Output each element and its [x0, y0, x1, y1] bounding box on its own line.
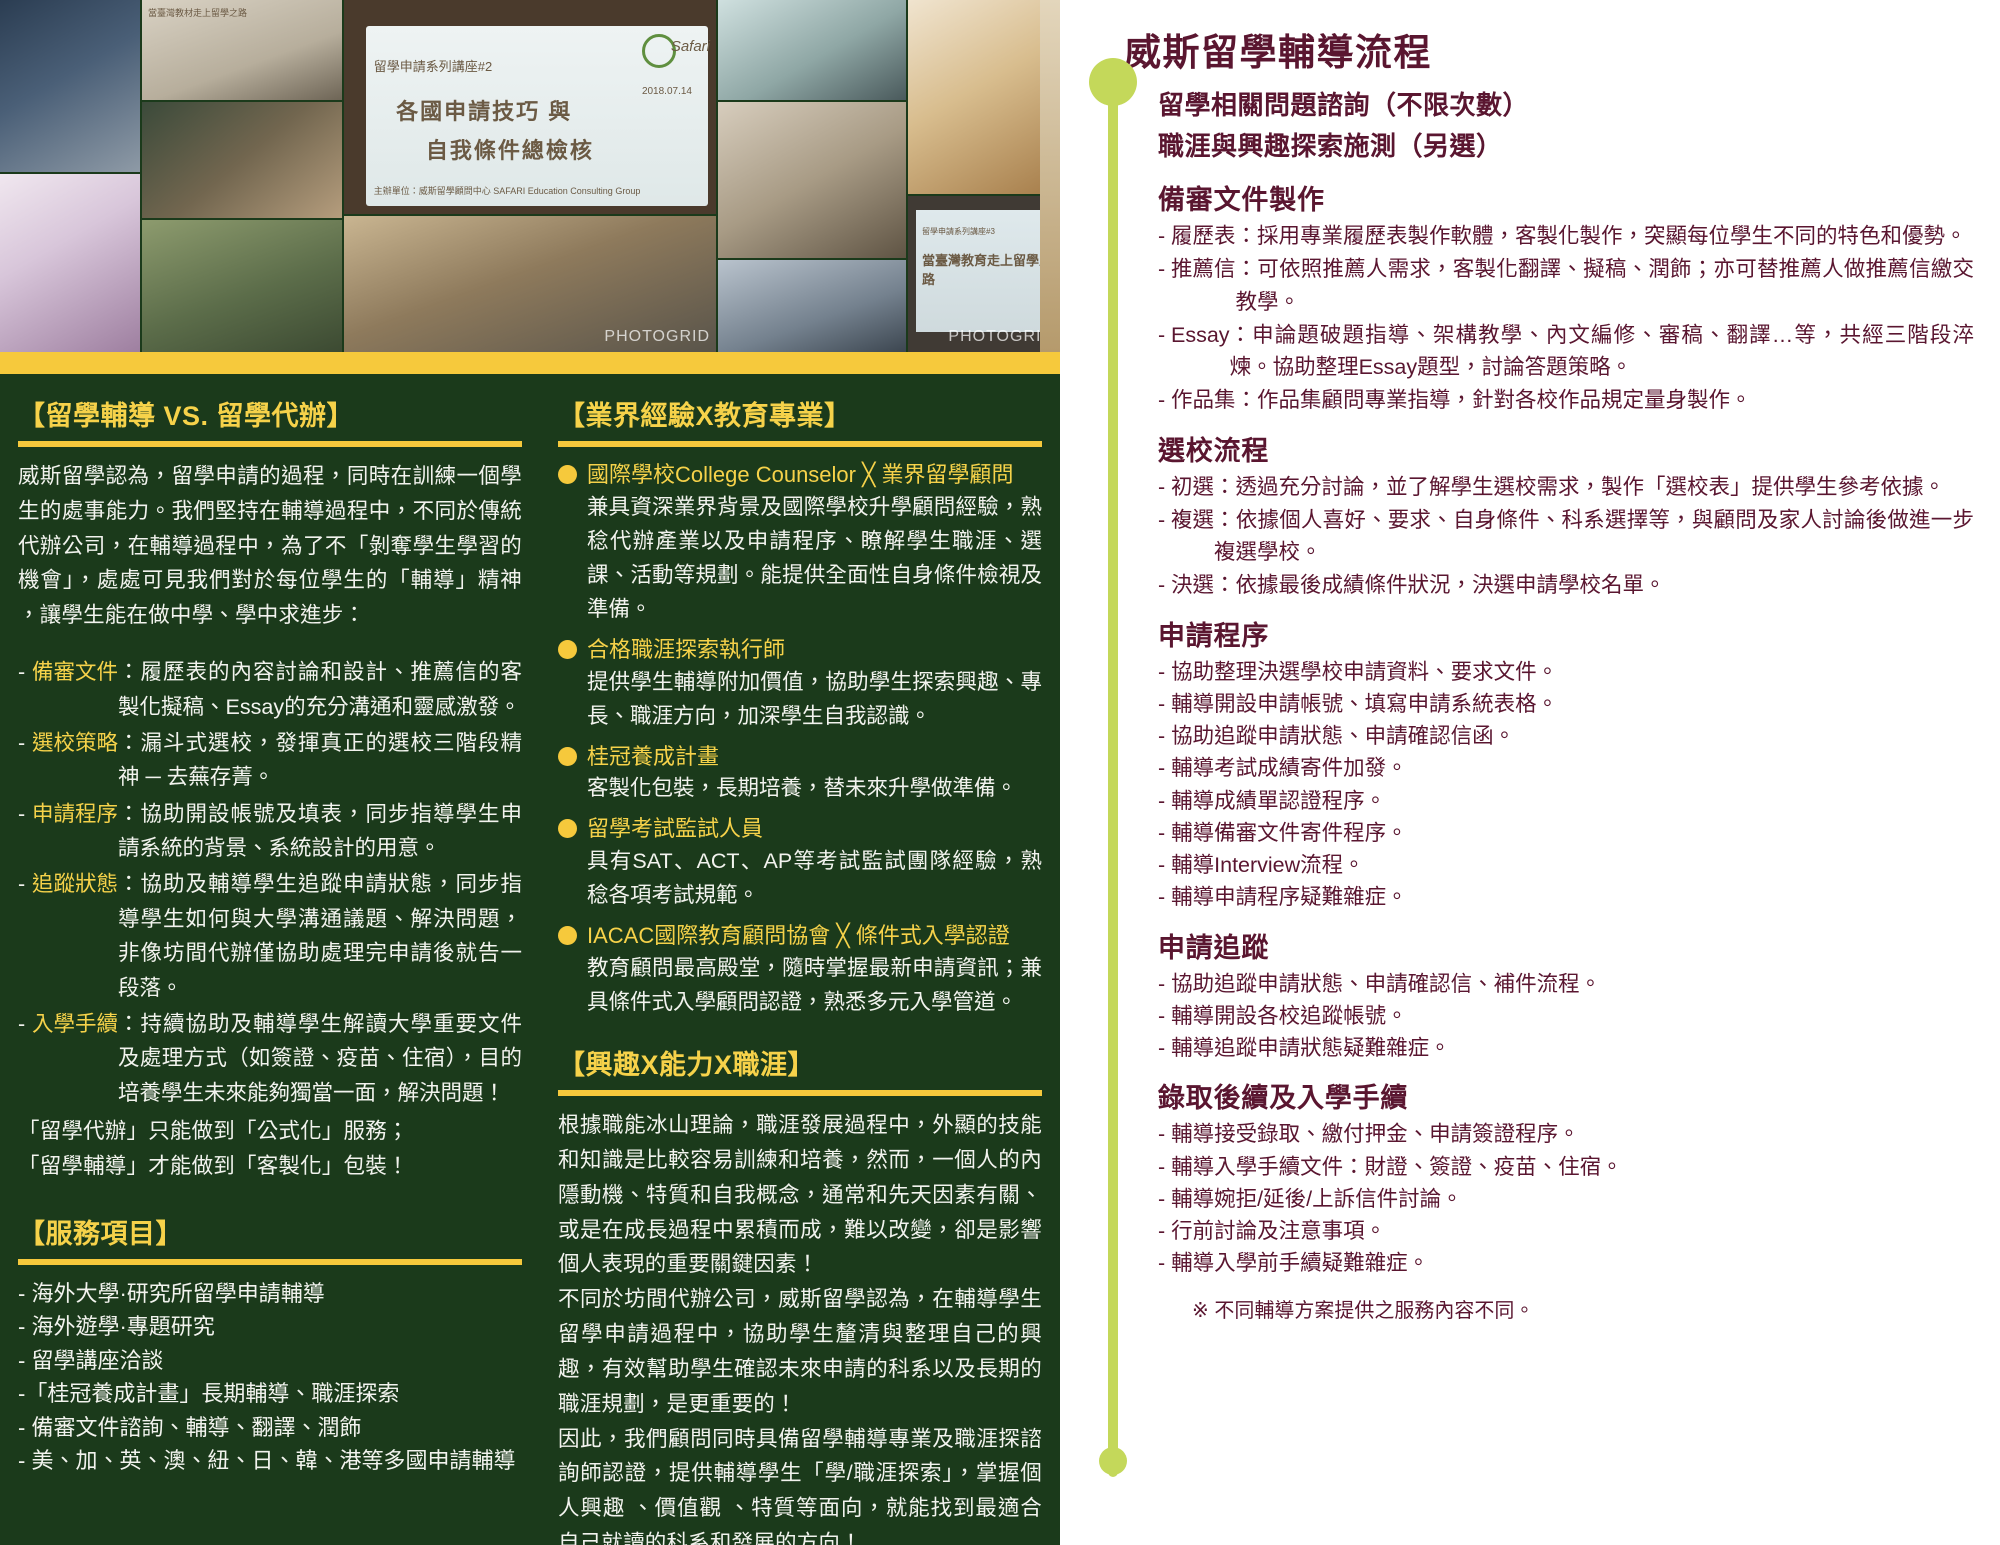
list-item: - 輔導考試成績寄件加發。	[1158, 752, 1974, 784]
item-body: ：持續協助及輔導學生解讀大學重要文件及處理方式（如簽證、疫苗、住宿），目的培養學…	[118, 1007, 522, 1110]
collage-photo-11	[1040, 0, 1060, 352]
closing-line-2: 「留學輔導」才能做到「客製化」包裝！	[18, 1149, 522, 1184]
collage-photo-3	[142, 102, 342, 218]
bullet-body: 具有SAT、ACT、AP等考試監試團隊經驗，熟稔各項考試規範。	[558, 845, 1042, 913]
dash-marker: -	[1158, 504, 1171, 569]
collage-caption-1: 當臺灣教材走上留學之路	[148, 6, 247, 19]
item-label: 申請程序	[32, 797, 118, 866]
list-item: - 初選 ：透過充分討論，並了解學生選校需求，製作「選校表」提供學生參考依據。	[1158, 471, 1974, 503]
list-item: - 輔導Interview流程。	[1158, 849, 1974, 881]
lead-line-1: 留學相關問題諮詢（不限次數）	[1158, 86, 1974, 125]
list-item: - 協助整理決選學校申請資料、要求文件。	[1158, 656, 1974, 688]
section-heading-post-admission: 錄取後續及入學手續	[1158, 1076, 1974, 1115]
collage-photo-2: 當臺灣教材走上留學之路	[142, 0, 342, 100]
interest-paragraph-2: 不同於坊間代辦公司，威斯留學認為，在輔導學生留學申請過程中，協助學生釐清與整理自…	[558, 1282, 1042, 1421]
item-label: 初選	[1171, 471, 1214, 503]
collage-photo-slide3: 留學申請系列講座#3 當臺灣教育走上留學之路 PHOTOGRID	[908, 196, 1060, 352]
interest-paragraph-1: 根據職能冰山理論，職涯發展過程中，外顯的技能和知識是比較容易訓練和培養，然而，一…	[558, 1108, 1042, 1282]
item-label: 備審文件	[32, 655, 118, 724]
list-item: - 輔導申請程序疑難雜症。	[1158, 881, 1974, 913]
list-item: - 輔導接受錄取、繳付押金、申請簽證程序。	[1158, 1118, 1974, 1150]
item-body: ：依據最後成績條件狀況，決選申請學校名單。	[1214, 569, 1974, 601]
item-label: 選校策略	[32, 726, 118, 795]
list-item: - 輔導婉拒/延後/上訴信件討論。	[1158, 1183, 1974, 1215]
item-body: ：履歷表的內容討論和設計、推薦信的客製化擬稿、Essay的充分溝通和靈感激發。	[118, 655, 522, 724]
bullet-head: 桂冠養成計畫	[558, 741, 1042, 773]
bullet-head: 合格職涯探索執行師	[558, 634, 1042, 666]
experience-bullets: 國際學校College Counselor ╳ 業界留學顧問 兼具資深業界背景及…	[558, 459, 1042, 1020]
bullet-dot-icon	[558, 640, 577, 659]
section-title-interest: 【興趣X能力X職涯】	[558, 1043, 1042, 1082]
list-item: - 複選 ：依據個人喜好、要求、自身條件、科系選擇等，與顧問及家人討論後做進一步…	[1158, 504, 1974, 569]
list-item: 合格職涯探索執行師 提供學生輔導附加價值，協助學生探索興趣、專長、職涯方向，加深…	[558, 634, 1042, 734]
comparison-intro: 威斯留學認為，留學申請的過程，同時在訓練一個學生的處事能力。我們堅持在輔導過程中…	[18, 459, 522, 633]
item-label: 追蹤狀態	[32, 867, 118, 1005]
left-panel: 當臺灣教材走上留學之路 留學申請系列講座#2 各國申請技巧 與 自我條件總檢核 …	[0, 0, 1060, 1545]
item-body: ：協助及輔導學生追蹤申請狀態，同步指導學生如何與大學溝通議題、解決問題，非像坊間…	[118, 867, 522, 1005]
list-item: - 決選 ：依據最後成績條件狀況，決選申請學校名單。	[1158, 569, 1974, 601]
closing-line-1: 「留學代辦」只能做到「公式化」服務；	[18, 1114, 522, 1149]
item-label: 入學手續	[32, 1007, 118, 1110]
dash-marker: -	[18, 797, 32, 866]
bullet-body: 教育顧問最高殿堂，隨時掌握最新申請資訊；兼具條件式入學顧問認證，熟悉多元入學管道…	[558, 952, 1042, 1020]
list-item: - Essay ：申論題破題指導、架構教學、內文編修、審稿、翻譯…等，共經三階段…	[1158, 319, 1974, 384]
section-title-comparison: 【留學輔導 VS. 留學代辦】	[18, 394, 522, 433]
item-label: 決選	[1171, 569, 1214, 601]
dash-marker: -	[1158, 471, 1171, 503]
item-body: ：可依照推薦人需求，客製化翻譯、擬稿、潤飾；亦可替推薦人做推薦信繳交教學。	[1236, 253, 1974, 318]
slide2-date: 2018.07.14	[642, 86, 692, 97]
watermark-2: PHOTOGRID	[948, 328, 1054, 346]
section-rule-4	[558, 1090, 1042, 1096]
bullet-dot-icon	[558, 819, 577, 838]
slide3-series: 留學申請系列講座#3	[922, 226, 995, 237]
lead-line-2: 職涯與興趣探索施測（另選）	[1158, 127, 1974, 166]
item-label: 推薦信	[1171, 253, 1236, 318]
list-item: - 履歷表 ：採用專業履歷表製作軟體，客製化製作，突顯每位學生不同的特色和優勢。	[1158, 220, 1974, 252]
bullet-body: 客製化包裝，長期培養，替未來升學做準備。	[558, 772, 1042, 806]
spacer-1	[18, 633, 522, 649]
bullet-title: IACAC國際教育顧問協會 ╳ 條件式入學認證	[587, 920, 1010, 952]
bullet-title: 留學考試監試人員	[587, 813, 763, 845]
list-item: - 推薦信 ：可依照推薦人需求，客製化翻譯、擬稿、潤飾；亦可替推薦人做推薦信繳交…	[1158, 253, 1974, 318]
list-item: 留學考試監試人員 具有SAT、ACT、AP等考試監試團隊經驗，熟稔各項考試規範。	[558, 813, 1042, 913]
services-list: - 海外大學·研究所留學申請輔導 - 海外遊學·專題研究 - 留學講座洽談 -「…	[18, 1277, 522, 1478]
bullet-head: 國際學校College Counselor ╳ 業界留學顧問	[558, 459, 1042, 491]
dash-marker: -	[1158, 253, 1171, 318]
column-a: 【留學輔導 VS. 留學代辦】 威斯留學認為，留學申請的過程，同時在訓練一個學生…	[0, 374, 540, 1545]
list-item: - 海外大學·研究所留學申請輔導	[18, 1277, 522, 1310]
dash-marker: -	[1158, 220, 1171, 252]
bullet-head: 留學考試監試人員	[558, 813, 1042, 845]
list-item: - 協助追蹤申請狀態、申請確認信、補件流程。	[1158, 968, 1974, 1000]
section-rule-1	[18, 441, 522, 447]
section-title-services: 【服務項目】	[18, 1212, 522, 1251]
collage-photo-5	[142, 220, 342, 352]
right-panel: 威斯留學輔導流程 留學相關問題諮詢（不限次數） 職涯與興趣探索施測（另選） 備審…	[1060, 0, 2000, 1545]
list-item: - 輔導備審文件寄件程序。	[1158, 817, 1974, 849]
item-body: ：協助開設帳號及填表，同步指導學生申請系統的背景、系統設計的用意。	[118, 797, 522, 866]
poster-root: 當臺灣教材走上留學之路 留學申請系列講座#2 各國申請技巧 與 自我條件總檢核 …	[0, 0, 2000, 1545]
list-item: - 選校策略 ：漏斗式選校，發揮真正的選校三階段精神 ─ 去蕪存菁。	[18, 726, 522, 795]
right-content: 留學相關問題諮詢（不限次數） 職涯與興趣探索施測（另選） 備審文件製作 - 履歷…	[1158, 86, 1974, 1323]
list-item: - 輔導開設各校追蹤帳號。	[1158, 1000, 1974, 1032]
bullet-dot-icon	[558, 465, 577, 484]
collage-photo-6: PHOTOGRID	[344, 216, 716, 352]
list-item: - 輔導開設申請帳號、填寫申請系統表格。	[1158, 688, 1974, 720]
collage-photo-10	[908, 0, 1060, 194]
list-item: IACAC國際教育顧問協會 ╳ 條件式入學認證 教育顧問最高殿堂，隨時掌握最新申…	[558, 920, 1042, 1020]
bullet-title: 桂冠養成計畫	[587, 741, 719, 773]
item-label: 作品集	[1171, 384, 1236, 416]
list-item: - 輔導入學手續文件：財證、簽證、疫苗、住宿。	[1158, 1151, 1974, 1183]
bullet-body: 兼具資深業界背景及國際學校升學顧問經驗，熟稔代辦產業以及申請程序、瞭解學生職涯、…	[558, 491, 1042, 627]
spacer-3	[558, 1027, 1042, 1043]
bullet-dot-icon	[558, 747, 577, 766]
dash-marker: -	[18, 655, 32, 724]
section-heading-documents: 備審文件製作	[1158, 178, 1974, 217]
yellow-divider-bar	[0, 352, 1060, 374]
item-body: ：依據個人喜好、要求、自身條件、科系選擇等，與顧問及家人討論後做進一步複選學校。	[1214, 504, 1974, 569]
list-item: - 留學講座洽談	[18, 1344, 522, 1377]
collage-photo-1	[0, 0, 140, 172]
dash-marker: -	[18, 726, 32, 795]
footnote: ※ 不同輔導方案提供之服務內容不同。	[1192, 1294, 1974, 1323]
collage-photo-7	[718, 0, 906, 100]
slide2-brand: Safari	[671, 38, 710, 55]
list-item: - 備審文件諮詢、輔導、翻譯、潤飾	[18, 1411, 522, 1444]
timeline-pin-line	[1108, 62, 1118, 1477]
bullet-head: IACAC國際教育顧問協會 ╳ 條件式入學認證	[558, 920, 1042, 952]
list-item: - 海外遊學·專題研究	[18, 1310, 522, 1343]
section-title-experience: 【業界經驗X教育專業】	[558, 394, 1042, 433]
item-body: ：漏斗式選校，發揮真正的選校三階段精神 ─ 去蕪存菁。	[118, 726, 522, 795]
list-item: - 美、加、英、澳、紐、日、韓、港等多國申請輔導	[18, 1444, 522, 1477]
collage-photo-9	[718, 260, 906, 352]
list-item: - 輔導入學前手續疑難雜症。	[1158, 1247, 1974, 1279]
dash-marker: -	[1158, 569, 1171, 601]
collage-photo-slide2: 留學申請系列講座#2 各國申請技巧 與 自我條件總檢核 2018.07.14 主…	[344, 0, 716, 214]
section-rule-2	[18, 1259, 522, 1265]
bullet-title: 國際學校College Counselor ╳ 業界留學顧問	[587, 459, 1013, 491]
list-item: - 輔導成績單認證程序。	[1158, 785, 1974, 817]
page-title: 威斯留學輔導流程	[1124, 22, 1974, 76]
timeline-pin-foot-icon	[1099, 1447, 1127, 1475]
item-body: ：申論題破題指導、架構教學、內文編修、審稿、翻譯…等，共經三階段淬煉。協助整理E…	[1230, 319, 1974, 384]
section-rule-3	[558, 441, 1042, 447]
list-item: - 作品集 ：作品集顧問專業指導，針對各校作品規定量身製作。	[1158, 384, 1974, 416]
section-heading-application-process: 申請程序	[1158, 614, 1974, 653]
dash-marker: -	[1158, 384, 1171, 416]
item-body: ：採用專業履歷表製作軟體，客製化製作，突顯每位學生不同的特色和優勢。	[1236, 220, 1974, 252]
list-item: - 入學手續 ：持續協助及輔導學生解讀大學重要文件及處理方式（如簽證、疫苗、住宿…	[18, 1007, 522, 1110]
bullet-body: 提供學生輔導附加價值，協助學生探索興趣、專長、職涯方向，加深學生自我認識。	[558, 666, 1042, 734]
list-item: - 協助追蹤申請狀態、申請確認信函。	[1158, 720, 1974, 752]
list-item: - 申請程序 ：協助開設帳號及填表，同步指導學生申請系統的背景、系統設計的用意。	[18, 797, 522, 866]
watermark-1: PHOTOGRID	[604, 328, 710, 346]
dash-marker: -	[18, 867, 32, 1005]
slide2-series: 留學申請系列講座#2	[374, 56, 492, 75]
list-item: - 追蹤狀態 ：協助及輔導學生追蹤申請狀態，同步指導學生如何與大學溝通議題、解決…	[18, 867, 522, 1005]
list-item: - 行前討論及注意事項。	[1158, 1215, 1974, 1247]
list-item: -「桂冠養成計畫」長期輔導、職涯探索	[18, 1377, 522, 1410]
list-item: - 備審文件 ：履歷表的內容討論和設計、推薦信的客製化擬稿、Essay的充分溝通…	[18, 655, 522, 724]
collage-photo-8	[718, 102, 906, 258]
section-heading-application-tracking: 申請追蹤	[1158, 926, 1974, 965]
collage-photo-4	[0, 174, 140, 352]
bullet-title: 合格職涯探索執行師	[587, 634, 785, 666]
right-inner: 威斯留學輔導流程 留學相關問題諮詢（不限次數） 職涯與興趣探索施測（另選） 備審…	[1060, 0, 2000, 1545]
item-label: 履歷表	[1171, 220, 1236, 252]
photo-collage: 當臺灣教材走上留學之路 留學申請系列講座#2 各國申請技巧 與 自我條件總檢核 …	[0, 0, 1060, 352]
list-item: - 輔導追蹤申請狀態疑難雜症。	[1158, 1032, 1974, 1064]
comparison-list: - 備審文件 ：履歷表的內容討論和設計、推薦信的客製化擬稿、Essay的充分溝通…	[18, 655, 522, 1110]
slide2-line2: 自我條件總檢核	[426, 133, 594, 165]
interest-paragraph-3: 因此，我們顧問同時具備留學輔導專業及職涯探諮詢師認證，提供輔導學生「學/職涯探索…	[558, 1422, 1042, 1545]
list-item: 桂冠養成計畫 客製化包裝，長期培養，替未來升學做準備。	[558, 741, 1042, 807]
slide2-line1: 各國申請技巧 與	[396, 94, 572, 126]
dash-marker: -	[1158, 319, 1171, 384]
item-label: 複選	[1171, 504, 1214, 569]
left-two-columns: 【留學輔導 VS. 留學代辦】 威斯留學認為，留學申請的過程，同時在訓練一個學生…	[0, 374, 1060, 1545]
item-label: Essay	[1171, 319, 1230, 384]
column-b: 【業界經驗X教育專業】 國際學校College Counselor ╳ 業界留學…	[540, 374, 1060, 1545]
item-body: ：作品集顧問專業指導，針對各校作品規定量身製作。	[1236, 384, 1974, 416]
slide2-footer: 主辦單位：威斯留學顧問中心 SAFARI Education Consultin…	[374, 184, 641, 197]
list-item: 國際學校College Counselor ╳ 業界留學顧問 兼具資深業界背景及…	[558, 459, 1042, 627]
dash-marker: -	[18, 1007, 32, 1110]
spacer-2	[18, 1184, 522, 1212]
item-body: ：透過充分討論，並了解學生選校需求，製作「選校表」提供學生參考依據。	[1214, 471, 1974, 503]
section-heading-school-selection: 選校流程	[1158, 429, 1974, 468]
bullet-dot-icon	[558, 926, 577, 945]
